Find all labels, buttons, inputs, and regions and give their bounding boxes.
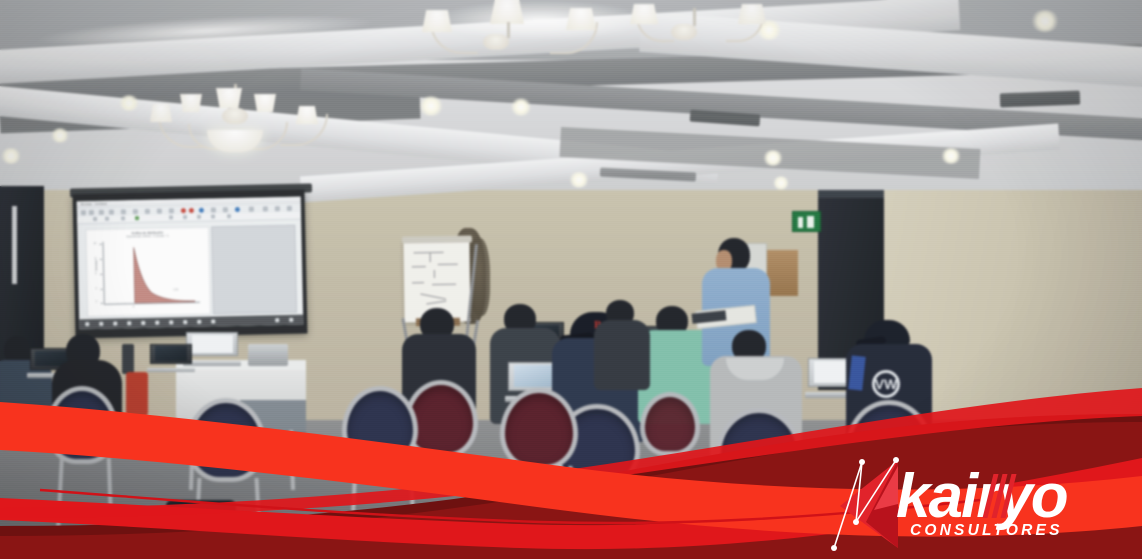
chandelier-shade [566, 8, 596, 30]
toolbar-icon [227, 214, 231, 218]
toolbar-icon [133, 209, 138, 214]
chart-y-axis-label: Densidad [95, 260, 98, 271]
toolbar-icon [169, 208, 174, 213]
downlight [118, 95, 140, 111]
chair-back [640, 392, 700, 456]
exit-sign-figure [798, 217, 803, 228]
chair [342, 386, 418, 466]
downlight [50, 128, 70, 143]
chandelier-shade [296, 106, 318, 124]
toolbar-icon [121, 209, 126, 214]
backpack [166, 500, 236, 536]
chandelier [420, 0, 600, 70]
downlight [568, 172, 590, 188]
fire-extinguisher [126, 372, 148, 416]
torso [594, 320, 650, 390]
laptop-screen [192, 335, 233, 353]
toolbar-icon [263, 206, 268, 211]
chandelier-shade [216, 88, 242, 108]
app-title-text: Minitab - Untitled [81, 202, 107, 207]
chandelier-shade [490, 0, 524, 24]
toolbar-icon [211, 207, 216, 212]
chair-back [342, 386, 418, 466]
downlight [762, 150, 784, 166]
toolbar-icon [135, 216, 139, 220]
toolbar-icon [99, 209, 104, 214]
chandelier-shade [738, 4, 766, 24]
toolbar-icon [181, 208, 186, 213]
chandelier-shade [254, 94, 276, 112]
exit-sign-door [807, 216, 814, 228]
distribution-chart: Gráfica de distribución Exponencial; Umb… [85, 227, 211, 318]
toolbar-icon [223, 207, 228, 212]
company-name: kairyo [896, 466, 1067, 528]
laptop-screen [155, 346, 188, 361]
toolbar-icon [121, 216, 125, 220]
chandelier-shade [630, 4, 658, 24]
door-header [818, 190, 884, 198]
chandelier-shade [422, 10, 452, 32]
toolbar-icon [109, 209, 114, 214]
laptop-base [147, 368, 194, 372]
downlight [1030, 10, 1060, 32]
downlight [0, 148, 22, 164]
toolbar-icon [93, 217, 97, 221]
distribution-curve [133, 246, 196, 303]
chair-back [186, 398, 266, 482]
toolbar-icon [275, 206, 280, 211]
toolbar-icon [199, 207, 204, 212]
chandelier-hub [671, 24, 697, 40]
photo-banner-composite: Minitab - Untitled [0, 0, 1142, 559]
toolbar-icon [145, 208, 150, 213]
chair [716, 408, 802, 492]
vw-logo: VW [872, 370, 900, 398]
chart-side-panel [211, 225, 297, 315]
chandelier-hub [222, 108, 248, 124]
chandelier [630, 0, 770, 60]
laptop [186, 332, 238, 366]
toolbar-icon [157, 208, 162, 213]
toolbar-icon [183, 215, 187, 219]
chair [46, 386, 118, 464]
toolbar-icon [81, 210, 86, 215]
downlight [940, 148, 962, 164]
toolbar-icon [287, 205, 292, 210]
projection-screen: Minitab - Untitled [77, 197, 304, 330]
chair [186, 398, 266, 482]
chart-y-axis [103, 242, 105, 304]
downlight [510, 98, 532, 116]
chandelier-shade [150, 104, 172, 122]
laptop-lid [186, 332, 238, 356]
equipment-stand [122, 344, 134, 374]
laptop-lid [150, 344, 192, 364]
toolbar-icon [211, 214, 215, 218]
laptop [150, 344, 192, 372]
chart-x-tick: 0 [133, 305, 134, 308]
chandelier-shade [180, 94, 202, 112]
toolbar-icon [249, 206, 254, 211]
chair [640, 392, 700, 456]
toolbar-icon [189, 207, 194, 212]
toolbar-icon [89, 210, 94, 215]
chandelier [150, 84, 320, 164]
company-tagline: CONSULTORES [910, 522, 1063, 540]
chair-back [716, 408, 802, 492]
projector [248, 344, 288, 366]
exit-sign [792, 211, 821, 232]
toolbar-icon [169, 215, 173, 219]
downlight [418, 96, 444, 116]
toolbar-icon [235, 206, 240, 211]
chandelier-stem [507, 22, 510, 38]
door-highlight [12, 206, 17, 284]
toolbar-icon [105, 217, 109, 221]
chair-back [46, 386, 118, 464]
chair [500, 388, 578, 470]
chandelier-hub [483, 34, 509, 50]
downlight [772, 176, 790, 190]
chandelier-stem [693, 8, 696, 26]
kairyo-wordmark: kairyo CONSULTORES [896, 466, 1126, 542]
ac-vent-icon [1000, 91, 1080, 108]
flipchart-clip [402, 236, 472, 244]
chair-back [500, 388, 578, 470]
toolbar-icon [197, 215, 201, 219]
